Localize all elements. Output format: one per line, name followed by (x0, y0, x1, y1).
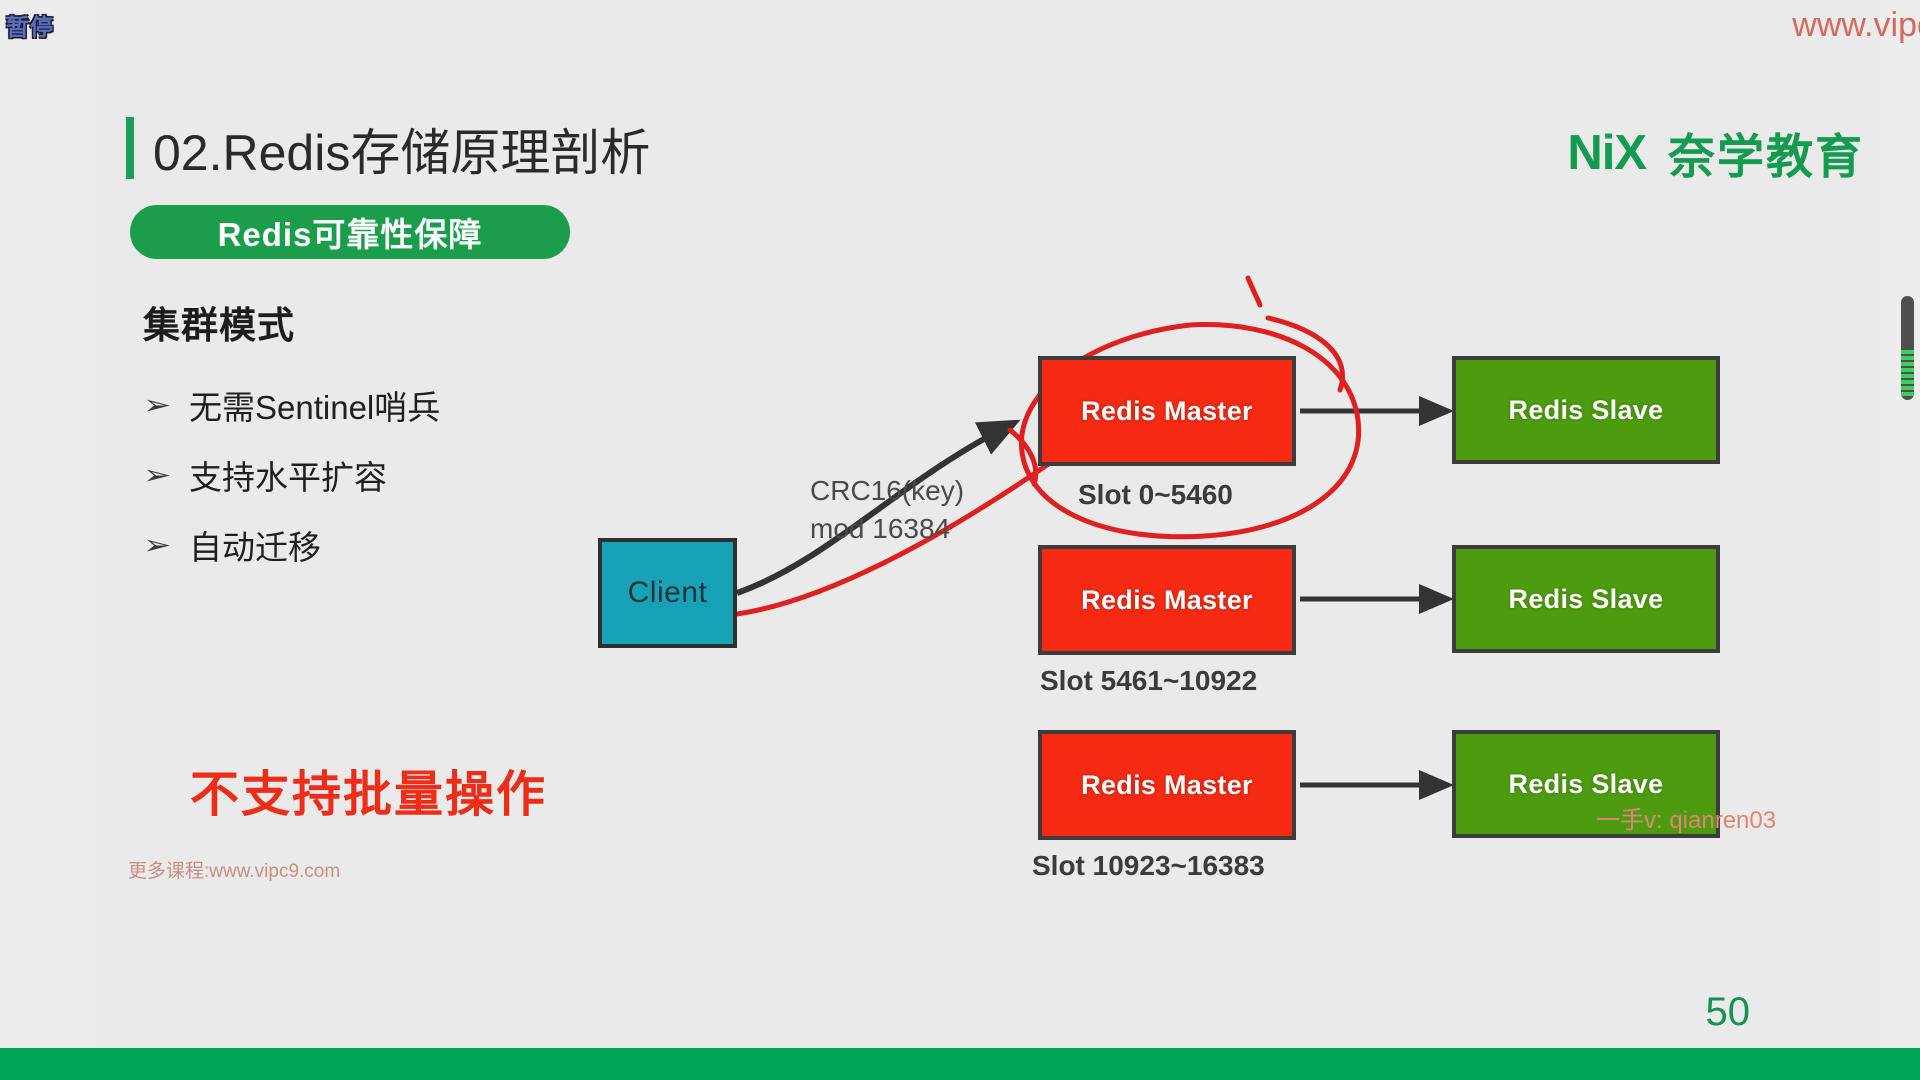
node-label: Redis Slave (1509, 395, 1664, 426)
node-label: Redis Master (1081, 396, 1253, 427)
slot-range-label: Slot 5461~10922 (1040, 665, 1340, 697)
node-label: Redis Master (1081, 585, 1253, 616)
scrollbar-thumb[interactable] (1901, 296, 1914, 400)
hash-formula-label: CRC16(key) mod 16384 (810, 472, 964, 548)
pause-indicator: 暂停 (6, 8, 54, 42)
node-redis-slave[interactable]: Redis Slave (1452, 356, 1720, 464)
scrollbar-track[interactable] (1898, 0, 1916, 1048)
user-watermark: 一手v: qianren03 (1596, 800, 1776, 835)
bottom-accent-bar (0, 1048, 1920, 1080)
node-label: Redis Slave (1509, 769, 1664, 800)
node-label: Client (628, 576, 708, 610)
hash-formula-line-1: CRC16(key) (810, 472, 964, 510)
hash-formula-line-2: mod 16384 (810, 510, 964, 548)
page-number: 50 (1706, 990, 1751, 1035)
annotation-tick (1248, 278, 1260, 305)
node-label: Redis Slave (1509, 584, 1664, 615)
slot-range-label: Slot 0~5460 (1078, 479, 1378, 511)
scrollbar-progress-stripes (1901, 350, 1914, 396)
node-label: Redis Master (1081, 770, 1253, 801)
node-redis-master[interactable]: Redis Master (1038, 730, 1296, 840)
slot-range-label: Slot 10923~16383 (1032, 850, 1332, 882)
node-redis-slave[interactable]: Redis Slave (1452, 545, 1720, 653)
cluster-diagram: Redis Master Redis Master Redis Master R… (0, 0, 1920, 1080)
node-redis-master[interactable]: Redis Master (1038, 356, 1296, 466)
slide-canvas: 02.Redis存储原理剖析 NiX 奈学教育 Redis可靠性保障 集群模式 … (0, 0, 1920, 1080)
node-redis-master[interactable]: Redis Master (1038, 545, 1296, 655)
node-client[interactable]: Client (598, 538, 737, 648)
